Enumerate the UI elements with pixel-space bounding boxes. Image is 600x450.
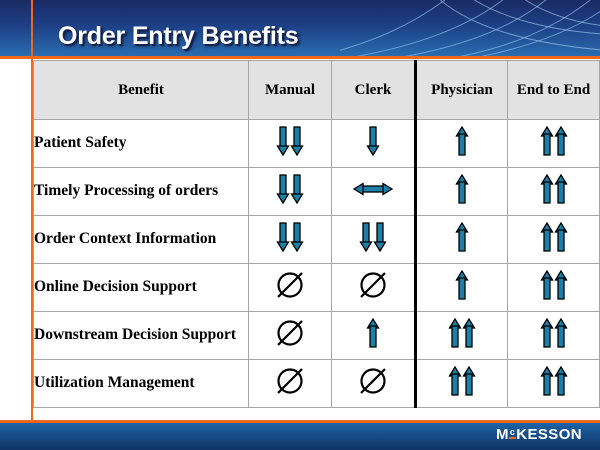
table-row: Utilization Management [34,360,600,408]
benefits-table-body: Patient SafetyTimely Processing of order… [34,120,600,408]
benefit-label: Timely Processing of orders [34,182,248,201]
column-header-manual: Manual [249,61,332,120]
rating-cell-manual [249,360,332,408]
table-row: Patient Safety [34,120,600,168]
benefit-label-cell: Downstream Decision Support [34,312,249,360]
single-down-arrow-icon [360,125,386,157]
benefit-label-cell: Utilization Management [34,360,249,408]
rating-cell-manual [249,168,332,216]
null-circle-icon [272,316,308,350]
benefits-table: Benefit Manual Clerk Physician End to En… [33,60,600,408]
rating-cell-clerk [332,216,416,264]
benefit-label: Online Decision Support [34,278,248,297]
table-row: Online Decision Support [34,264,600,312]
double-down-arrow-icon [273,173,307,205]
null-circle-icon [355,364,391,398]
rating-cell-physician [416,216,508,264]
benefit-label-cell: Patient Safety [34,120,249,168]
column-header-physician: Physician [416,61,508,120]
rating-cell-clerk [332,168,416,216]
rating-cell-end_to_end [508,264,600,312]
table-row: Downstream Decision Support [34,312,600,360]
double-up-arrow-icon [537,317,571,349]
double-up-arrow-icon [445,317,479,349]
double-up-arrow-icon [537,173,571,205]
double-up-arrow-icon [537,125,571,157]
rating-cell-end_to_end [508,312,600,360]
double-down-arrow-icon [273,125,307,157]
rating-cell-end_to_end [508,216,600,264]
page-title: Order Entry Benefits [58,22,299,51]
rating-cell-clerk [332,312,416,360]
benefit-label-cell: Order Context Information [34,216,249,264]
bottom-orange-accent-line [0,420,600,423]
double-up-arrow-icon [537,365,571,397]
table-row: Order Context Information [34,216,600,264]
column-header-end-to-end: End to End [508,61,600,120]
benefit-label: Order Context Information [34,230,248,249]
double-up-arrow-icon [537,269,571,301]
single-up-arrow-icon [449,269,475,301]
logo-text-part2: KESSON [516,426,582,443]
rating-cell-physician [416,264,508,312]
rating-cell-end_to_end [508,168,600,216]
left-right-arrow-icon [351,173,395,205]
rating-cell-end_to_end [508,120,600,168]
table-row: Timely Processing of orders [34,168,600,216]
rating-cell-clerk [332,360,416,408]
rating-cell-manual [249,312,332,360]
single-up-arrow-icon [449,125,475,157]
mckesson-logo: McKESSON [496,426,582,443]
rating-cell-clerk [332,120,416,168]
rating-cell-clerk [332,264,416,312]
logo-text-part1: M [496,426,509,443]
null-circle-icon [272,268,308,302]
single-up-arrow-icon [360,317,386,349]
benefit-label: Utilization Management [34,374,248,393]
double-down-arrow-icon [273,221,307,253]
benefit-label: Downstream Decision Support [34,326,248,345]
double-down-arrow-icon [356,221,390,253]
rating-cell-end_to_end [508,360,600,408]
left-orange-accent-line [31,0,33,423]
double-up-arrow-icon [445,365,479,397]
column-header-clerk: Clerk [332,61,416,120]
benefit-label: Patient Safety [34,134,248,153]
rating-cell-manual [249,264,332,312]
header-orange-rule [0,56,600,59]
null-circle-icon [272,364,308,398]
benefit-label-cell: Timely Processing of orders [34,168,249,216]
slide: Order Entry Benefits Benefit Manual Cler… [0,0,600,450]
single-up-arrow-icon [449,221,475,253]
benefit-label-cell: Online Decision Support [34,264,249,312]
rating-cell-physician [416,168,508,216]
single-up-arrow-icon [449,173,475,205]
double-up-arrow-icon [537,221,571,253]
column-header-benefit: Benefit [34,61,249,120]
header-swoosh-decoration [340,0,600,56]
rating-cell-physician [416,360,508,408]
table-header-row: Benefit Manual Clerk Physician End to En… [34,61,600,120]
null-circle-icon [355,268,391,302]
rating-cell-physician [416,312,508,360]
rating-cell-manual [249,120,332,168]
rating-cell-physician [416,120,508,168]
benefits-table-container: Benefit Manual Clerk Physician End to En… [33,60,599,408]
slide-header: Order Entry Benefits [0,0,600,56]
rating-cell-manual [249,216,332,264]
